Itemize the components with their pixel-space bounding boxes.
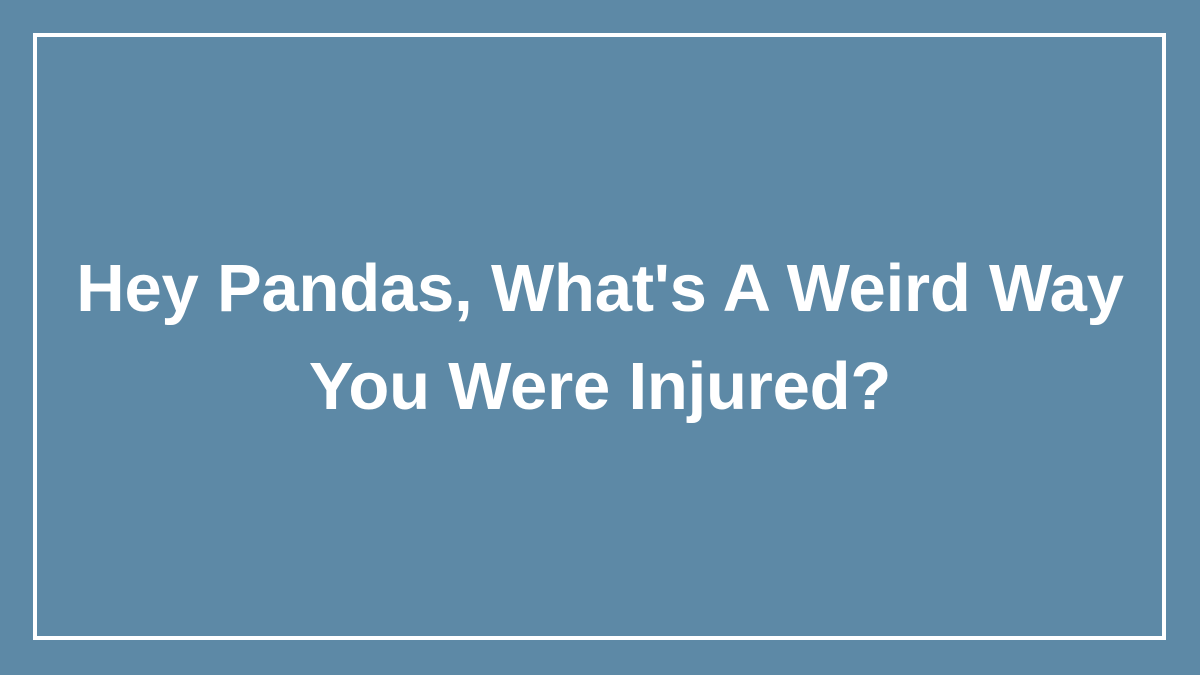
headline-block: Hey Pandas, What's A Weird Way You Were … bbox=[0, 0, 1200, 675]
headline-line-1: Hey Pandas, What's A Weird Way bbox=[70, 240, 1130, 338]
headline-line-2: You Were Injured? bbox=[70, 338, 1130, 436]
poster-canvas: Hey Pandas, What's A Weird Way You Were … bbox=[0, 0, 1200, 675]
